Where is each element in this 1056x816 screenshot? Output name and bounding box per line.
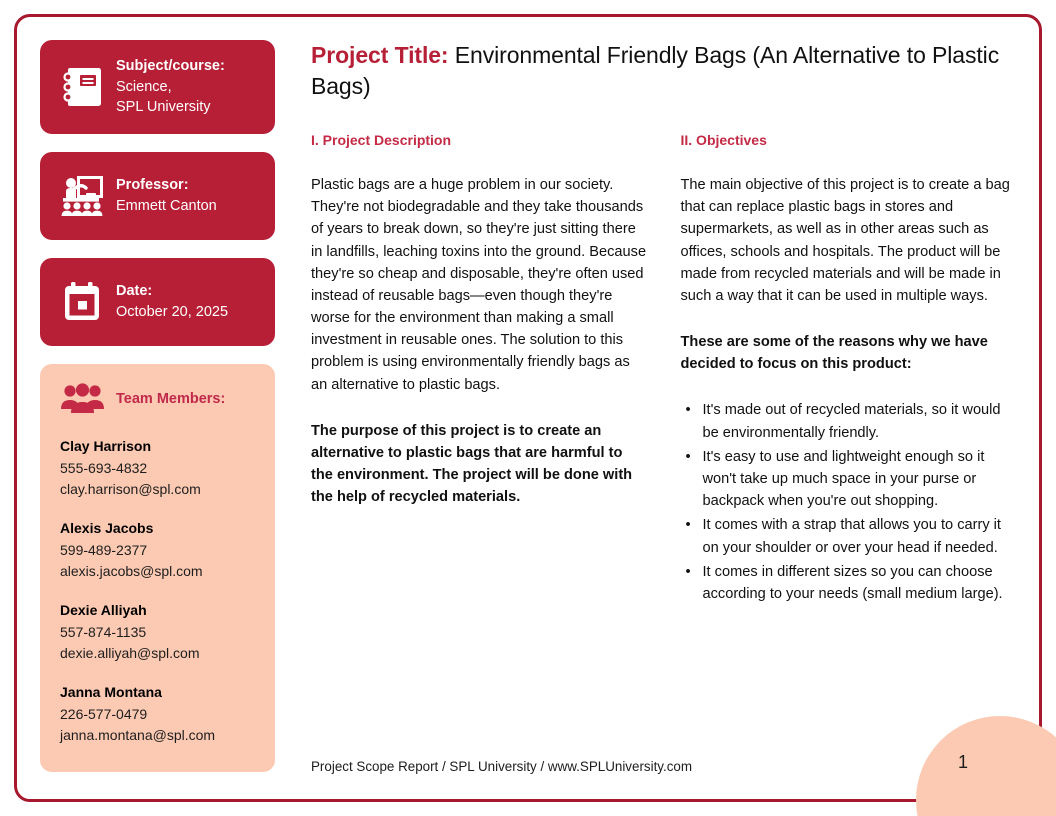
section-objectives: II. Objectives The main objective of thi… <box>681 132 1017 607</box>
team-member: Clay Harrison 555-693-4832 clay.harrison… <box>60 436 255 500</box>
info-card-date: Date: October 20, 2025 <box>40 258 275 346</box>
team-members-header: Team Members: <box>60 382 255 416</box>
info-card-subject: Subject/course: Science,SPL University <box>40 40 275 134</box>
main-content: Project Title: Environmental Friendly Ba… <box>311 40 1016 786</box>
team-member-name: Clay Harrison <box>60 436 255 457</box>
sidebar: Subject/course: Science,SPL University <box>40 40 275 772</box>
page-title-label: Project Title: <box>311 42 449 68</box>
info-card-date-text: Date: October 20, 2025 <box>116 281 228 322</box>
team-member-name: Dexie Alliyah <box>60 600 255 621</box>
content-columns: I. Project Description Plastic bags are … <box>311 132 1016 607</box>
info-card-professor: Professor: Emmett Canton <box>40 152 275 240</box>
section-heading-objectives: II. Objectives <box>681 132 1017 148</box>
team-member-name: Janna Montana <box>60 682 255 703</box>
info-card-date-label: Date: <box>116 281 228 302</box>
team-member: Dexie Alliyah 557-874-1135 dexie.alliyah… <box>60 600 255 664</box>
section-project-description: I. Project Description Plastic bags are … <box>311 132 647 607</box>
section-heading-project-description: I. Project Description <box>311 132 647 148</box>
team-members-card: Team Members: Clay Harrison 555-693-4832… <box>40 364 275 772</box>
page-title: Project Title: Environmental Friendly Ba… <box>311 40 1016 102</box>
objectives-bullet-list: It's made out of recycled materials, so … <box>681 399 1017 605</box>
notebook-icon <box>54 59 110 115</box>
info-card-date-value: October 20, 2025 <box>116 302 228 323</box>
professor-lecture-icon <box>54 168 110 224</box>
objectives-list-intro: These are some of the reasons why we hav… <box>681 331 1017 375</box>
info-card-professor-label: Professor: <box>116 175 217 196</box>
team-member: Alexis Jacobs 599-489-2377 alexis.jacobs… <box>60 518 255 582</box>
page-number: 1 <box>958 752 968 773</box>
team-member-name: Alexis Jacobs <box>60 518 255 539</box>
team-member-phone: 226-577-0479 <box>60 704 255 725</box>
team-member-email: clay.harrison@spl.com <box>60 479 255 500</box>
team-member-email: janna.montana@spl.com <box>60 725 255 746</box>
team-member-phone: 599-489-2377 <box>60 540 255 561</box>
team-member-phone: 557-874-1135 <box>60 622 255 643</box>
team-member-phone: 555-693-4832 <box>60 458 255 479</box>
document-page: Subject/course: Science,SPL University <box>0 0 1056 816</box>
team-member-email: dexie.alliyah@spl.com <box>60 643 255 664</box>
page-content: Subject/course: Science,SPL University <box>40 40 1016 786</box>
info-card-subject-label: Subject/course: <box>116 56 225 77</box>
objectives-paragraph: The main objective of this project is to… <box>681 174 1017 307</box>
list-item: It's easy to use and lightweight enough … <box>703 446 1017 513</box>
team-member: Janna Montana 226-577-0479 janna.montana… <box>60 682 255 746</box>
page-number-badge: 1 <box>916 716 1056 816</box>
list-item: It comes with a strap that allows you to… <box>703 514 1017 558</box>
info-card-subject-text: Subject/course: Science,SPL University <box>116 56 225 118</box>
page-footer: Project Scope Report / SPL University / … <box>311 759 692 774</box>
team-group-icon <box>60 382 106 416</box>
team-members-title: Team Members: <box>116 391 225 407</box>
info-card-professor-value: Emmett Canton <box>116 196 217 217</box>
project-purpose-paragraph: The purpose of this project is to create… <box>311 420 647 509</box>
project-description-paragraph: Plastic bags are a huge problem in our s… <box>311 174 647 396</box>
list-item: It's made out of recycled materials, so … <box>703 399 1017 443</box>
info-card-subject-value: Science,SPL University <box>116 77 225 118</box>
team-member-email: alexis.jacobs@spl.com <box>60 561 255 582</box>
list-item: It comes in different sizes so you can c… <box>703 561 1017 605</box>
calendar-icon <box>54 274 110 330</box>
info-card-professor-text: Professor: Emmett Canton <box>116 175 217 216</box>
